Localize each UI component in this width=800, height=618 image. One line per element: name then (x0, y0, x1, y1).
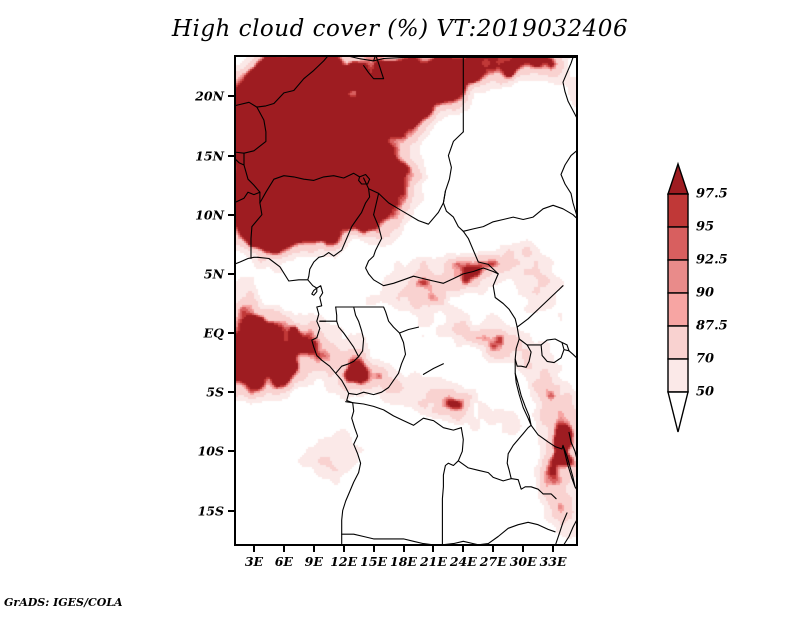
lat-tick-label-5n: 5N (178, 266, 224, 281)
lon-tick-label-33e: 33E (533, 554, 573, 569)
border-line (364, 55, 384, 79)
colorbar-band (668, 359, 688, 392)
border-line (463, 231, 498, 274)
border-line (251, 203, 262, 259)
border-line (541, 339, 564, 363)
border-line (478, 522, 555, 545)
colorbar-tick-90: 90 (696, 286, 714, 301)
lon-tick-mark (432, 546, 434, 552)
lat-tick-mark (228, 391, 234, 393)
border-line (563, 445, 575, 486)
border-line (493, 274, 519, 373)
border-line (575, 487, 578, 492)
colorbar-gradient (660, 160, 700, 470)
colorbar-tick-92-5: 92.5 (696, 253, 728, 268)
colorbar-tick-70: 70 (696, 352, 714, 367)
colorbar[interactable]: 97.59592.59087.57050 (660, 160, 800, 470)
lat-tick-mark (228, 155, 234, 157)
border-line (563, 57, 578, 120)
border-line (369, 189, 446, 225)
lat-tick-mark (228, 332, 234, 334)
colorbar-tick-87-5: 87.5 (696, 319, 728, 334)
colorbar-under-arrow (668, 392, 688, 432)
border-line (569, 432, 578, 463)
border-line (515, 373, 531, 425)
colorbar-tick-95: 95 (696, 220, 714, 235)
border-line (400, 327, 419, 333)
border-line (442, 541, 478, 545)
colorbar-band (668, 260, 688, 293)
lon-tick-mark (522, 546, 524, 552)
border-line (336, 307, 364, 373)
border-line (374, 57, 464, 131)
border-line (563, 518, 578, 546)
border-line (531, 425, 563, 449)
lat-tick-label-10s: 10S (178, 444, 224, 459)
border-line (244, 165, 260, 203)
lat-tick-label-10n: 10N (178, 207, 224, 222)
lat-tick-mark (228, 273, 234, 275)
border-line (234, 107, 266, 153)
border-line (555, 513, 567, 546)
border-line (458, 461, 556, 499)
colorbar-tick-50: 50 (696, 385, 714, 400)
border-line (329, 55, 376, 61)
border-line (234, 192, 260, 203)
lat-tick-label-15s: 15S (178, 503, 224, 518)
border-line (234, 153, 244, 165)
lat-tick-mark (228, 95, 234, 97)
colorbar-tick-97-5: 97.5 (696, 187, 728, 202)
lon-tick-mark (343, 546, 345, 552)
lon-tick-mark (462, 546, 464, 552)
border-line (342, 534, 443, 545)
lat-tick-mark (228, 214, 234, 216)
lat-tick-label-15n: 15N (178, 148, 224, 163)
colorbar-band (668, 227, 688, 260)
colorbar-band (668, 293, 688, 326)
border-line (234, 55, 329, 107)
colorbar-band (668, 326, 688, 359)
border-line (374, 193, 379, 214)
border-line (308, 178, 370, 280)
border-line (337, 321, 359, 357)
page-title: High cloud cover (%) VT:2019032406 (0, 16, 800, 42)
border-line (463, 205, 578, 231)
lon-tick-mark (313, 546, 315, 552)
border-line (443, 132, 463, 231)
lon-tick-mark (253, 546, 255, 552)
border-line (515, 345, 531, 367)
border-line (517, 286, 563, 327)
grads-credit: GrADS: IGES/COLA (4, 596, 123, 609)
lon-tick-mark (552, 546, 554, 552)
lat-tick-mark (228, 450, 234, 452)
border-line (442, 428, 463, 545)
border-line (349, 307, 406, 395)
border-line (312, 288, 317, 295)
lon-tick-mark (373, 546, 375, 552)
border-line (346, 402, 462, 430)
colorbar-band (668, 194, 688, 227)
lat-tick-label-5s: 5S (178, 385, 224, 400)
lon-tick-mark (403, 546, 405, 552)
border-line (366, 215, 499, 286)
country-borders-overlay (234, 55, 578, 546)
border-line (423, 364, 443, 375)
lat-tick-label-eq: EQ (178, 326, 224, 341)
lon-tick-mark (492, 546, 494, 552)
border-line (507, 425, 531, 478)
border-line (562, 343, 578, 360)
lat-tick-mark (228, 510, 234, 512)
border-line (519, 339, 541, 345)
map-panel[interactable] (234, 55, 578, 546)
lon-tick-mark (283, 546, 285, 552)
border-line (260, 173, 360, 203)
border-line (258, 257, 361, 543)
colorbar-over-arrow (668, 164, 688, 194)
lat-tick-label-20n: 20N (178, 89, 224, 104)
border-line (320, 307, 337, 321)
border-line (234, 257, 258, 264)
